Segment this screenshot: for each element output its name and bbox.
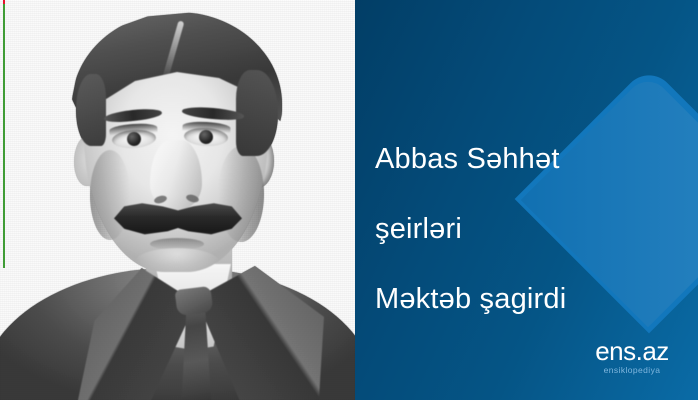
portrait-photo-pane: [0, 0, 355, 400]
portrait-illustration: [0, 0, 355, 400]
poster-card: Abbas Səhhət şeirləri Məktəb şagirdi ens…: [0, 0, 698, 400]
headline-line-title: Məktəb şagirdi: [375, 264, 675, 334]
chin: [134, 248, 220, 278]
hair-temple-right: [236, 70, 278, 156]
hair-temple-left: [76, 74, 106, 146]
headline-line-category: şeirləri: [375, 194, 675, 264]
title-panel: Abbas Səhhət şeirləri Məktəb şagirdi ens…: [355, 0, 698, 400]
flag-accent-strip: [3, 0, 5, 400]
ens-az-logo[interactable]: ens.az ensiklopediya: [583, 338, 681, 376]
logo-wordmark: ens.az: [583, 338, 681, 364]
headline-block: Abbas Səhhət şeirləri Məktəb şagirdi: [375, 124, 675, 334]
headline-line-author: Abbas Səhhət: [375, 124, 675, 194]
logo-tagline: ensiklopediya: [583, 365, 681, 376]
